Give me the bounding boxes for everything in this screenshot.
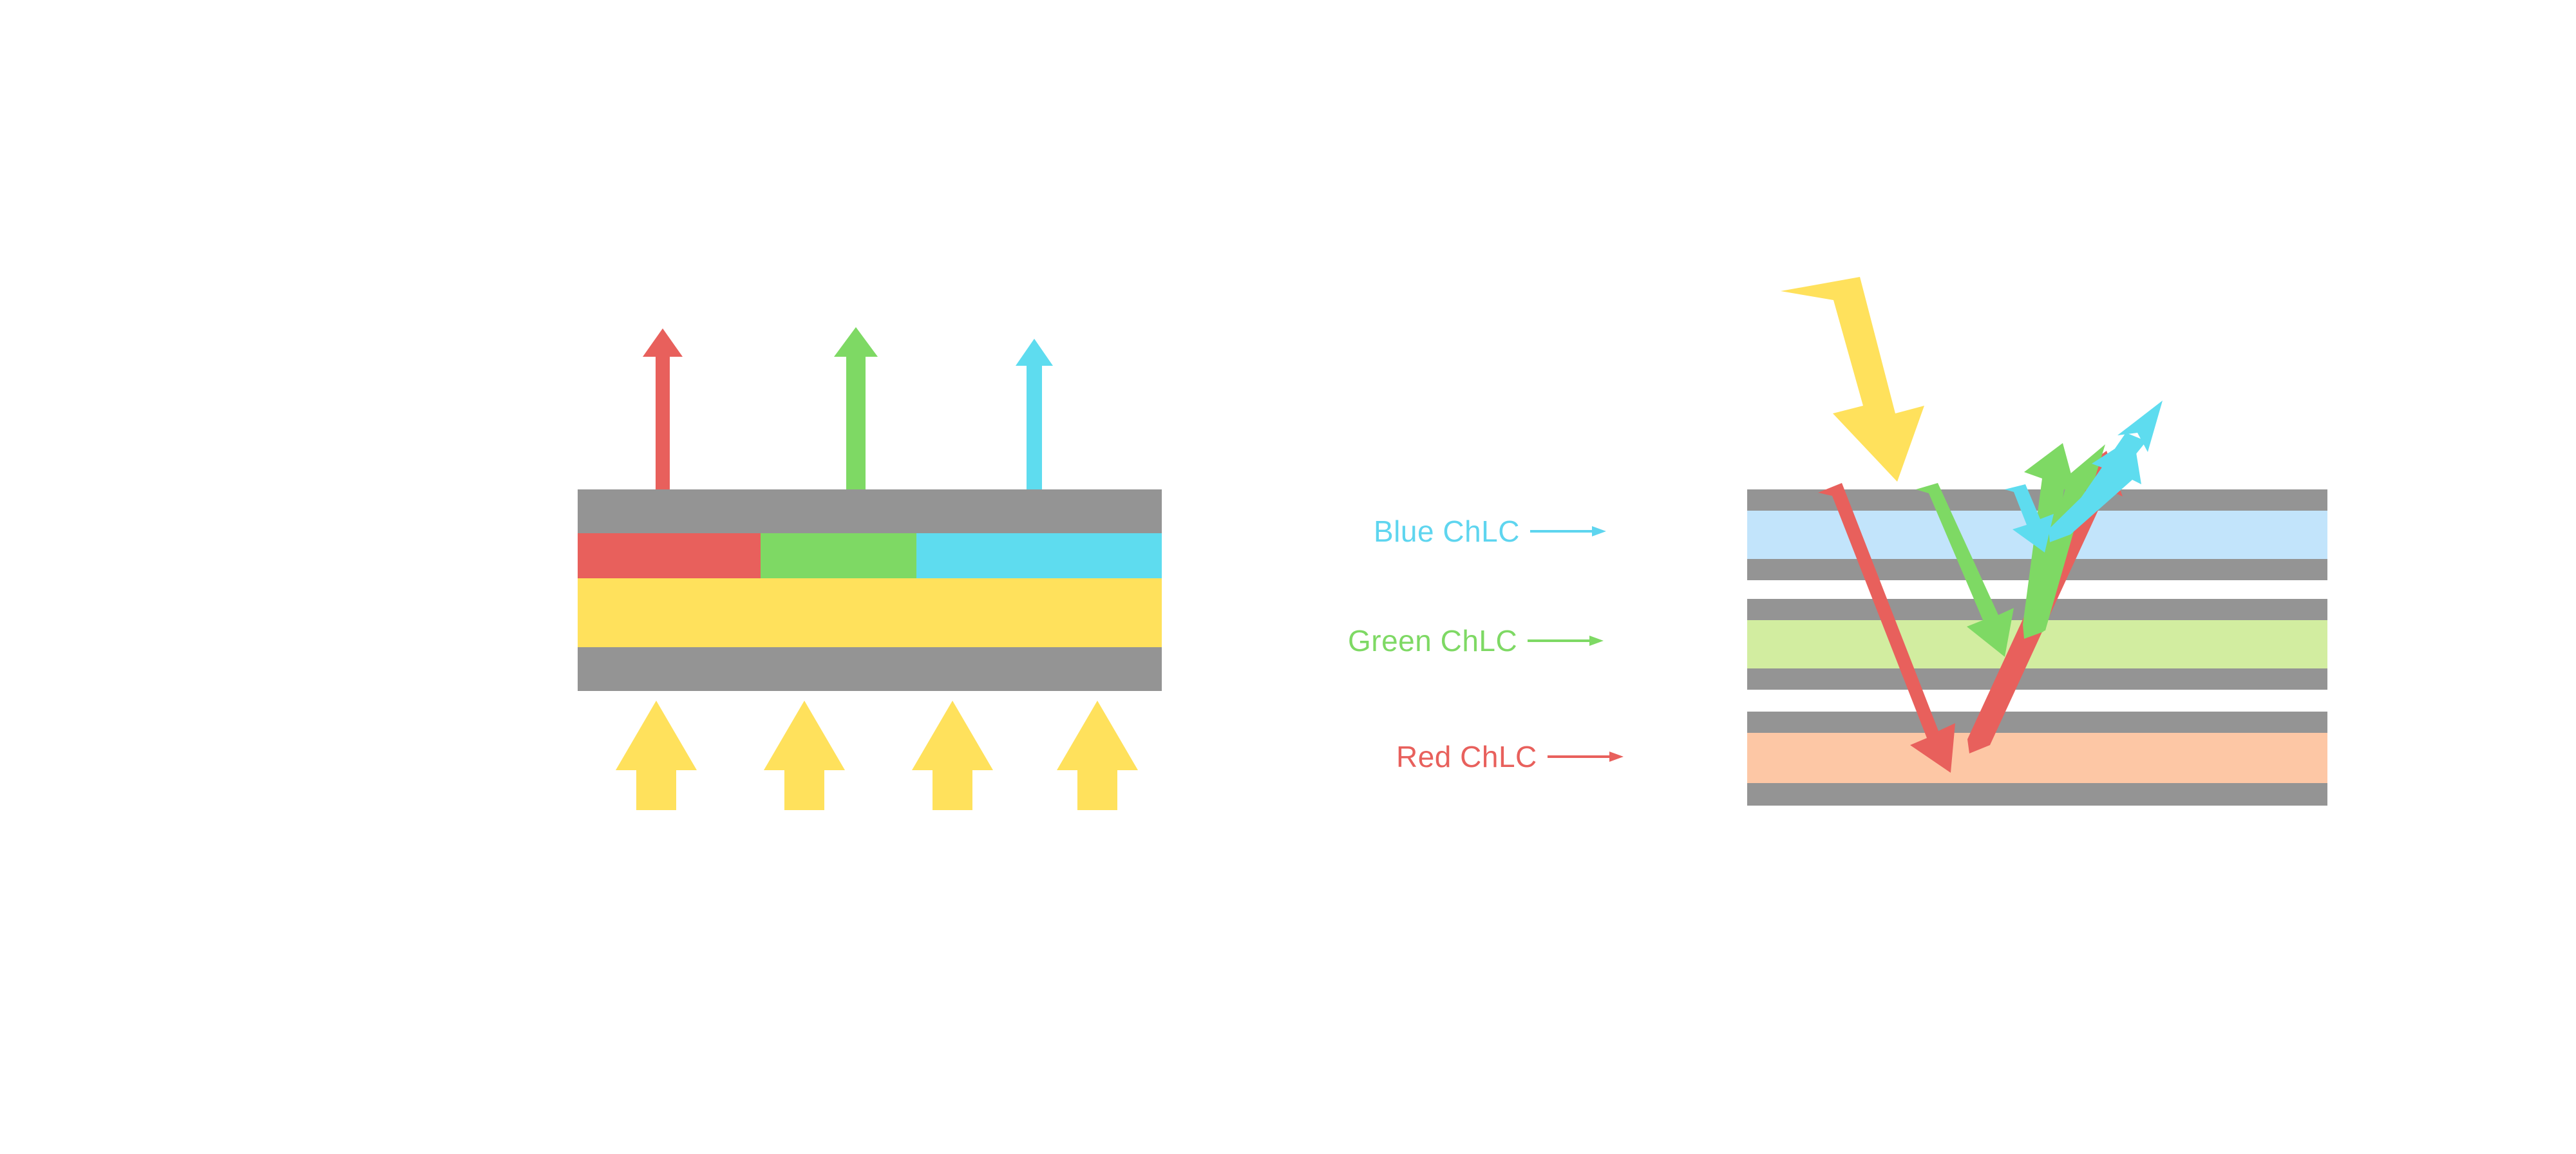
- green-chlc-pointer-icon: [1528, 632, 1605, 650]
- ambient-light-arrow: [1781, 277, 1924, 482]
- reflective-chlc-stack-panel: Blue ChLC Green ChLC Red ChLC: [1747, 277, 2365, 818]
- figure-canvas: Blue ChLC Green ChLC Red ChLC: [0, 0, 2576, 1154]
- color-filter-layer: [578, 533, 1162, 578]
- backlight-arrow-group: [613, 701, 1122, 810]
- red-chlc-pointer-icon: [1548, 748, 1625, 766]
- red-chlc-label: Red ChLC: [1396, 742, 1625, 771]
- blue-chlc-label-text: Blue ChLC: [1374, 516, 1520, 546]
- blue-subpixel: [916, 533, 1162, 578]
- blue-chlc-label: Blue ChLC: [1374, 516, 1607, 546]
- green-subpixel: [761, 533, 916, 578]
- cyan-emission-arrow: [1012, 339, 1057, 489]
- green-chlc-label: Green ChLC: [1348, 626, 1605, 656]
- red-chlc-label-text: Red ChLC: [1396, 742, 1537, 771]
- red-emission-arrow: [640, 328, 685, 489]
- emissive-stack-panel: [578, 322, 1162, 831]
- green-chlc-label-text: Green ChLC: [1348, 626, 1517, 656]
- green-emission-arrow: [830, 327, 882, 489]
- blue-chlc-pointer-icon: [1530, 522, 1607, 540]
- backlight-layer: [578, 578, 1162, 647]
- bottom-electrode-layer: [578, 647, 1162, 691]
- red-subpixel: [578, 533, 761, 578]
- top-electrode-layer: [578, 489, 1162, 533]
